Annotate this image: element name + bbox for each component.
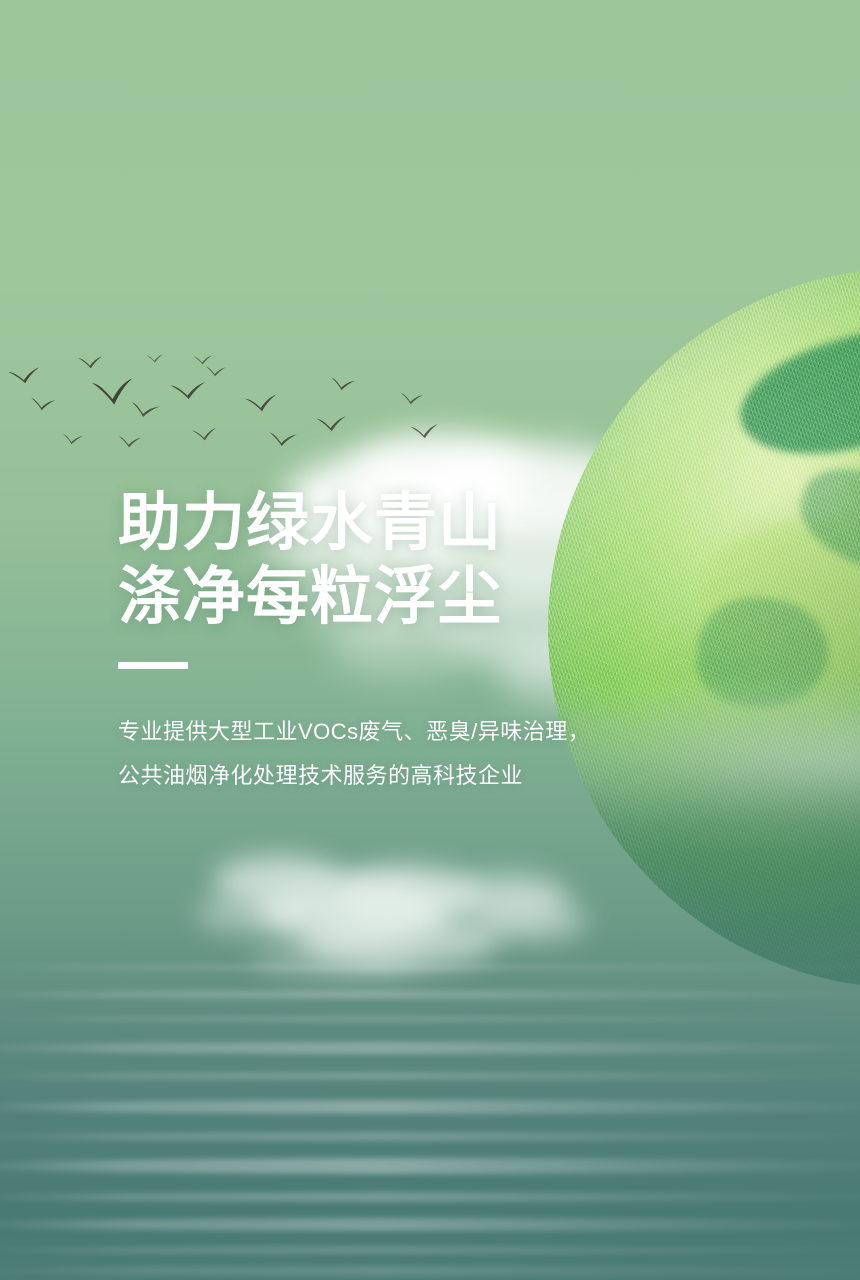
- water-wave-11: [0, 1246, 860, 1254]
- bird-glyph: [118, 435, 143, 449]
- bird-glyph: [7, 366, 43, 387]
- cloud-lower-7: [196, 894, 306, 934]
- headline-line-1: 助力绿水青山: [118, 486, 678, 560]
- bird-glyph: [409, 423, 440, 441]
- bird-glyph: [29, 397, 56, 413]
- headline-line-2: 涤净每粒浮尘: [118, 560, 678, 634]
- bird-glyph: [267, 431, 298, 449]
- bird-glyph: [315, 415, 348, 433]
- title-divider: [118, 662, 188, 669]
- poster-root: 助力绿水青山 涤净每粒浮尘 专业提供大型工业VOCs废气、恶臭/异味治理， 公共…: [0, 0, 860, 1280]
- bird-glyph: [244, 393, 280, 414]
- flying-birds-flock: [0, 0, 480, 140]
- subtitle-line-2: 公共油烟净化处理技术服务的高科技企业: [118, 757, 678, 795]
- water-wave-8: [0, 1158, 860, 1174]
- bird-glyph: [399, 392, 424, 406]
- hero-text-block: 助力绿水青山 涤净每粒浮尘 专业提供大型工业VOCs废气、恶臭/异味治理， 公共…: [118, 486, 678, 795]
- bird-icon-18: [146, 350, 164, 360]
- bird-icon-2: [29, 397, 56, 413]
- water-wave-12: [0, 1266, 860, 1276]
- bird-icon-15: [399, 391, 424, 405]
- bird-icon-14: [315, 415, 348, 433]
- bird-glyph: [205, 365, 228, 377]
- bird-icon-13: [329, 376, 357, 392]
- bird-icon-16: [409, 423, 440, 441]
- bird-icon-11: [267, 431, 298, 449]
- water-wave-4: [0, 1042, 860, 1054]
- bird-icon-5: [129, 401, 161, 421]
- water-wave-10: [0, 1218, 860, 1231]
- water-wave-2: [0, 990, 860, 999]
- bird-icon-3: [78, 355, 105, 370]
- water-wave-5: [0, 1072, 860, 1080]
- bird-glyph: [146, 354, 164, 364]
- bird-glyph: [61, 433, 84, 447]
- water-wave-1: [0, 964, 860, 971]
- bird-icon-17: [61, 431, 84, 445]
- bird-glyph: [191, 427, 218, 443]
- subtitle-line-1: 专业提供大型工业VOCs废气、恶臭/异味治理，: [118, 713, 678, 751]
- water-surface: [0, 950, 860, 1280]
- bird-icon-6: [169, 380, 208, 401]
- water-wave-9: [0, 1192, 860, 1202]
- bird-glyph: [193, 355, 213, 366]
- bird-icon-8: [191, 427, 218, 443]
- water-wave-7: [0, 1132, 860, 1141]
- cloud-lower-6: [478, 900, 588, 942]
- water-wave-6: [0, 1100, 860, 1114]
- bird-icon-7: [118, 434, 143, 448]
- bird-glyph: [169, 380, 208, 401]
- bird-icon-9: [205, 363, 228, 375]
- bird-glyph: [129, 401, 161, 421]
- bird-glyph: [78, 355, 105, 370]
- water-wave-3: [0, 1016, 860, 1022]
- bird-icon-10: [244, 393, 280, 414]
- bird-icon-1: [7, 366, 43, 387]
- bird-glyph: [329, 376, 357, 392]
- bird-icon-12: [193, 352, 213, 363]
